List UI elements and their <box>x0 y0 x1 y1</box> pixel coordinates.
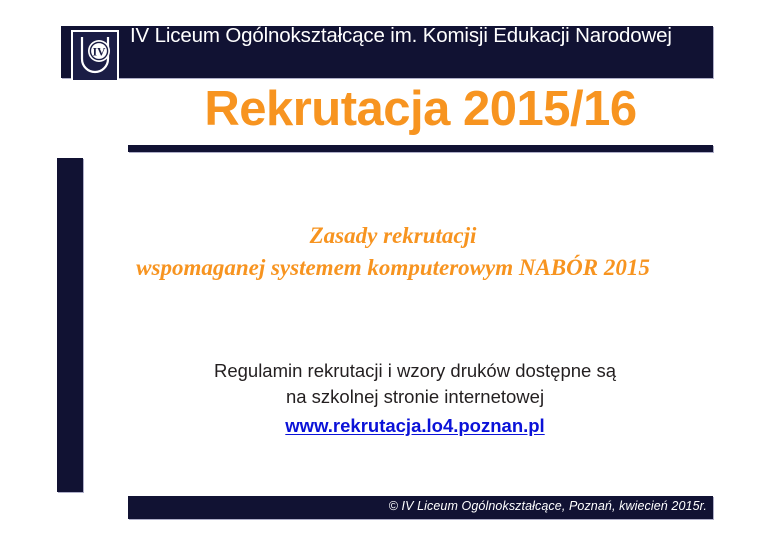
crest-monogram: IV <box>93 47 106 59</box>
presentation-slide: IV Liceum Ogólnokształcące im. Komisji E… <box>0 0 768 543</box>
school-name-heading: IV Liceum Ogólnokształcące im. Komisji E… <box>130 24 730 48</box>
left-accent-bar <box>57 158 83 492</box>
subtitle-line-2: wspomaganej systemem komputerowym NABÓR … <box>88 252 698 284</box>
page-title: Rekrutacja 2015/16 <box>128 84 713 135</box>
copyright-text: © IV Liceum Ogólnokształcące, Poznań, kw… <box>389 499 707 513</box>
school-crest-logo: IV <box>71 30 119 82</box>
recruitment-website-link[interactable]: www.rekrutacja.lo4.poznan.pl <box>150 415 680 437</box>
body-line-1: Regulamin rekrutacji i wzory druków dost… <box>150 358 680 384</box>
crest-icon: IV <box>73 32 117 80</box>
subtitle-block: Zasady rekrutacji wspomaganej systemem k… <box>88 220 698 283</box>
body-line-2: na szkolnej stronie internetowej <box>150 384 680 410</box>
title-underline-rule <box>128 145 713 152</box>
footer-bar: © IV Liceum Ogólnokształcące, Poznań, kw… <box>128 496 713 519</box>
body-text-block: Regulamin rekrutacji i wzory druków dost… <box>150 358 680 437</box>
subtitle-line-1: Zasady rekrutacji <box>88 220 698 252</box>
